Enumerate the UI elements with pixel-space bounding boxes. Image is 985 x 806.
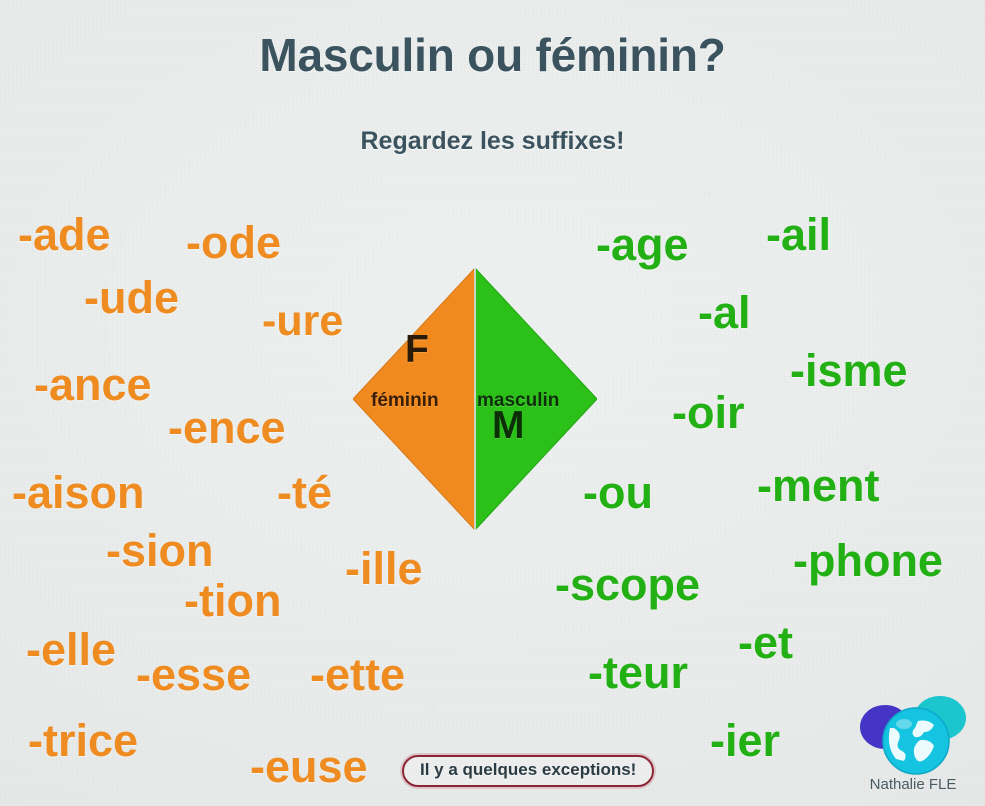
feminine-suffix-euse: -euse: [250, 744, 368, 789]
page-title: Masculin ou féminin?: [0, 28, 985, 82]
feminine-suffix-ette: -ette: [310, 652, 405, 697]
feminine-suffix-ade: -ade: [18, 212, 111, 257]
diamond-feminine-word: féminin: [371, 391, 439, 410]
feminine-suffix-elle: -elle: [26, 627, 116, 672]
poster-canvas: Masculin ou féminin? Regardez les suffix…: [0, 0, 985, 806]
masculine-suffix-isme: -isme: [790, 348, 908, 393]
feminine-suffix-aison: -aison: [12, 470, 145, 515]
feminine-suffix-trice: -trice: [28, 718, 138, 763]
feminine-suffix-esse: -esse: [136, 652, 251, 697]
brand-logo-text: Nathalie FLE: [848, 776, 978, 793]
brand-logo: Nathalie FLE: [848, 694, 978, 798]
feminine-suffix-ode: -ode: [186, 220, 281, 265]
masculine-suffix-age: -age: [596, 222, 689, 267]
diamond-masculine-letter: M: [492, 406, 525, 445]
feminine-suffix-ance: -ance: [34, 362, 152, 407]
feminine-suffix-ure: -ure: [262, 300, 343, 343]
diamond-feminine-letter: F: [405, 330, 429, 369]
masculine-suffix-scope: -scope: [555, 562, 700, 607]
page-subtitle: Regardez les suffixes!: [0, 127, 985, 156]
feminine-suffix-tion: -tion: [184, 578, 281, 623]
feminine-suffix-ence: -ence: [168, 405, 286, 450]
feminine-suffix-ille: -ille: [345, 546, 423, 591]
exceptions-note: Il y a quelques exceptions!: [402, 755, 654, 787]
feminine-suffix-sion: -sion: [106, 528, 214, 573]
masculine-suffix-phone: -phone: [793, 538, 943, 583]
gender-diamond: F féminin masculin M: [353, 268, 597, 530]
masculine-suffix-oir: -oir: [672, 390, 745, 435]
masculine-suffix-ment: -ment: [757, 463, 880, 508]
masculine-suffix-ier: -ier: [710, 718, 780, 763]
masculine-suffix-et: -et: [738, 620, 793, 665]
masculine-suffix-teur: -teur: [588, 650, 688, 695]
masculine-suffix-ail: -ail: [766, 212, 831, 257]
masculine-suffix-al: -al: [698, 290, 751, 335]
feminine-suffix-ude: -ude: [84, 275, 179, 320]
feminine-suffix-té: -té: [277, 470, 332, 515]
